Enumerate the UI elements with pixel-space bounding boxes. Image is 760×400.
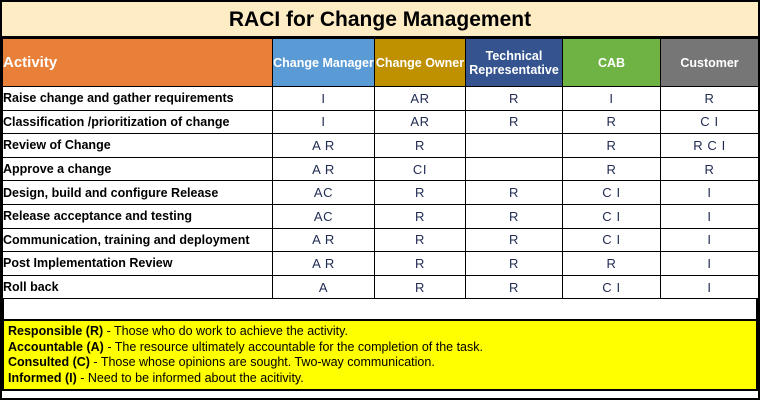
raci-cell: CI [375, 157, 466, 181]
legend-description: - Those whose opinions are sought. Two-w… [90, 355, 435, 369]
raci-cell: C I [661, 110, 759, 134]
table-row: Review of Change A R R R R C I [3, 134, 759, 158]
legend-item-informed: Informed (I) - Need to be informed about… [8, 371, 756, 387]
raci-table: Activity Change Manager Change Owner Tec… [2, 38, 759, 299]
raci-cell: R [375, 181, 466, 205]
legend-term: Informed (I) [8, 371, 77, 385]
table-row: Release acceptance and testing AC R R C … [3, 204, 759, 228]
raci-cell: I [661, 228, 759, 252]
raci-cell: R [563, 110, 661, 134]
table-row: Design, build and configure Release AC R… [3, 181, 759, 205]
table-row: Raise change and gather requirements I A… [3, 87, 759, 111]
raci-cell: A R [273, 228, 375, 252]
legend-description: - Need to be informed about the acitivit… [77, 371, 304, 385]
raci-cell: R [466, 275, 563, 299]
raci-cell: R [466, 87, 563, 111]
raci-cell: AC [273, 204, 375, 228]
column-header-technical-representative: Technical Representative [466, 39, 563, 87]
table-row: Roll back A R R C I I [3, 275, 759, 299]
header-row: Activity Change Manager Change Owner Tec… [3, 39, 759, 87]
raci-cell [466, 134, 563, 158]
raci-cell: R [375, 204, 466, 228]
table-row: Approve a change A R CI R R [3, 157, 759, 181]
raci-cell: A R [273, 157, 375, 181]
activity-label: Roll back [3, 275, 273, 299]
raci-cell: R [466, 228, 563, 252]
column-header-customer: Customer [661, 39, 759, 87]
legend-item-responsible: Responsible (R) - Those who do work to a… [8, 324, 756, 340]
raci-cell: A [273, 275, 375, 299]
legend-description: - Those who do work to achieve the activ… [103, 324, 348, 338]
raci-cell: R [661, 157, 759, 181]
raci-cell: AC [273, 181, 375, 205]
raci-cell: R [466, 204, 563, 228]
raci-legend: Responsible (R) - Those who do work to a… [2, 319, 758, 391]
raci-matrix-page: RACI for Change Management Activity Chan… [0, 0, 760, 400]
raci-cell: C I [563, 275, 661, 299]
activity-label: Approve a change [3, 157, 273, 181]
raci-cell: R [563, 134, 661, 158]
raci-cell: C I [563, 228, 661, 252]
raci-cell: I [661, 181, 759, 205]
activity-label: Design, build and configure Release [3, 181, 273, 205]
legend-item-consulted: Consulted (C) - Those whose opinions are… [8, 355, 756, 371]
raci-cell: A R [273, 134, 375, 158]
raci-cell: R [375, 134, 466, 158]
table-legend-spacer [2, 299, 758, 319]
raci-cell: R [375, 275, 466, 299]
legend-term: Responsible (R) [8, 324, 103, 338]
table-body: Raise change and gather requirements I A… [3, 87, 759, 299]
activity-label: Release acceptance and testing [3, 204, 273, 228]
legend-item-accountable: Accountable (A) - The resource ultimatel… [8, 340, 756, 356]
raci-cell: AR [375, 87, 466, 111]
activity-label: Post Implementation Review [3, 252, 273, 276]
legend-term: Accountable (A) [8, 340, 104, 354]
column-header-activity: Activity [3, 39, 273, 87]
raci-cell: R [466, 181, 563, 205]
legend-description: - The resource ultimately accountable fo… [104, 340, 483, 354]
raci-cell: R [563, 157, 661, 181]
table-header: Activity Change Manager Change Owner Tec… [3, 39, 759, 87]
activity-label: Classification /prioritization of change [3, 110, 273, 134]
raci-cell: AR [375, 110, 466, 134]
raci-cell: R [466, 252, 563, 276]
raci-cell: R [563, 252, 661, 276]
raci-cell: R [466, 110, 563, 134]
raci-cell: C I [563, 181, 661, 205]
activity-label: Raise change and gather requirements [3, 87, 273, 111]
table-row: Classification /prioritization of change… [3, 110, 759, 134]
legend-term: Consulted (C) [8, 355, 90, 369]
raci-cell: I [273, 87, 375, 111]
raci-cell: C I [563, 204, 661, 228]
raci-cell: R [375, 252, 466, 276]
raci-cell: I [273, 110, 375, 134]
raci-cell: R [661, 87, 759, 111]
raci-cell [466, 157, 563, 181]
raci-cell: A R [273, 252, 375, 276]
column-header-change-owner: Change Owner [375, 39, 466, 87]
table-row: Post Implementation Review A R R R R I [3, 252, 759, 276]
raci-cell: I [661, 204, 759, 228]
raci-cell: R C I [661, 134, 759, 158]
activity-label: Review of Change [3, 134, 273, 158]
page-title: RACI for Change Management [229, 9, 531, 30]
raci-cell: I [563, 87, 661, 111]
page-title-band: RACI for Change Management [2, 2, 758, 38]
column-header-change-manager: Change Manager [273, 39, 375, 87]
column-header-cab: CAB [563, 39, 661, 87]
raci-cell: I [661, 275, 759, 299]
table-row: Communication, training and deployment A… [3, 228, 759, 252]
raci-cell: R [375, 228, 466, 252]
raci-cell: I [661, 252, 759, 276]
activity-label: Communication, training and deployment [3, 228, 273, 252]
